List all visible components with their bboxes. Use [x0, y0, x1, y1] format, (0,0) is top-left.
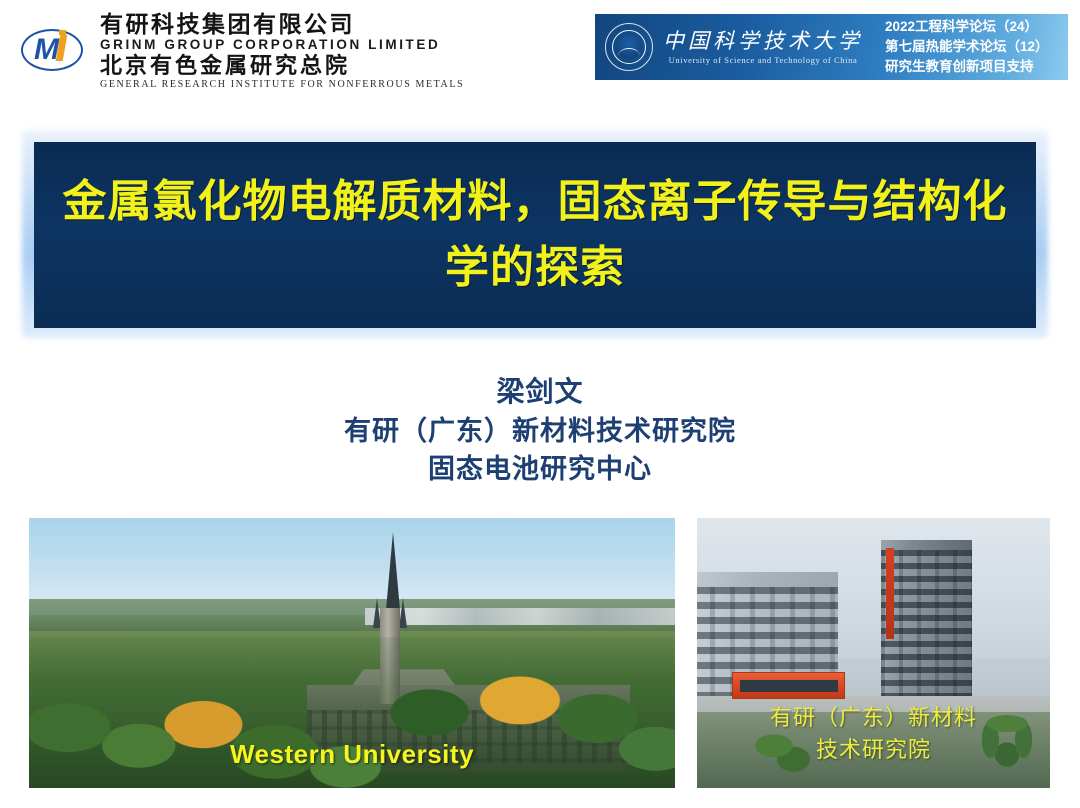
grinm-institute-en: GENERAL RESEARCH INSTITUTE FOR NONFERROU…	[100, 78, 464, 91]
title-box: 金属氯化物电解质材料，固态离子传导与结构化学的探索	[34, 142, 1036, 328]
tower-spire	[386, 532, 400, 610]
ustc-name-lockup: 中国科学技术大学 University of Science and Techn…	[663, 28, 863, 66]
photo-caption-right: 有研（广东）新材料 技术研究院	[697, 702, 1050, 766]
tower-pinnacle-right	[399, 598, 407, 628]
ustc-forum-banner: 中国科学技术大学 University of Science and Techn…	[595, 14, 1068, 80]
forum-line-3: 研究生教育创新项目支持	[885, 57, 1068, 77]
author-name: 梁剑文	[0, 372, 1080, 412]
grinm-company-cn: 有研科技集团有限公司	[100, 12, 464, 37]
ustc-university-en: University of Science and Technology of …	[663, 54, 863, 66]
grinm-logo-block: M 有研科技集团有限公司 GRINM GROUP CORPORATION LIM…	[18, 10, 418, 92]
photo-high-rise-building	[881, 540, 973, 718]
photo-red-signage	[886, 548, 894, 640]
author-organization-line2: 固态电池研究中心	[0, 450, 1080, 488]
photo-caption-right-line2: 技术研究院	[697, 734, 1050, 766]
author-block: 梁剑文 有研（广东）新材料技术研究院 固态电池研究中心	[0, 372, 1080, 488]
grinm-text-lockup: 有研科技集团有限公司 GRINM GROUP CORPORATION LIMIT…	[100, 12, 464, 91]
grinm-m-logo-icon: M	[18, 23, 92, 79]
photo-orange-skybridge	[732, 672, 845, 699]
grinm-institute-cn: 北京有色金属研究总院	[100, 53, 464, 78]
grinm-company-en: GRINM GROUP CORPORATION LIMITED	[100, 37, 464, 53]
western-university-photo: Western University	[29, 518, 675, 788]
grinm-guangdong-photo: 有研（广东）新材料 技术研究院	[697, 518, 1050, 788]
forum-line-2: 第七届热能学术论坛（12）	[885, 37, 1068, 57]
photo-caption-right-line1: 有研（广东）新材料	[697, 702, 1050, 734]
page-title: 金属氯化物电解质材料，固态离子传导与结构化学的探索	[58, 169, 1012, 301]
forum-info-lines: 2022工程科学论坛（24） 第七届热能学术论坛（12） 研究生教育创新项目支持	[885, 17, 1068, 77]
forum-line-1: 2022工程科学论坛（24）	[885, 17, 1068, 37]
logo-m-glyph: M	[34, 35, 57, 65]
photo-distant-city	[365, 608, 675, 624]
ustc-university-cn: 中国科学技术大学	[663, 28, 863, 54]
author-organization-line1: 有研（广东）新材料技术研究院	[0, 412, 1080, 450]
slide-header: M 有研科技集团有限公司 GRINM GROUP CORPORATION LIM…	[0, 0, 1080, 100]
photo-caption-left: Western University	[29, 739, 675, 770]
ustc-emblem-icon	[601, 19, 657, 75]
